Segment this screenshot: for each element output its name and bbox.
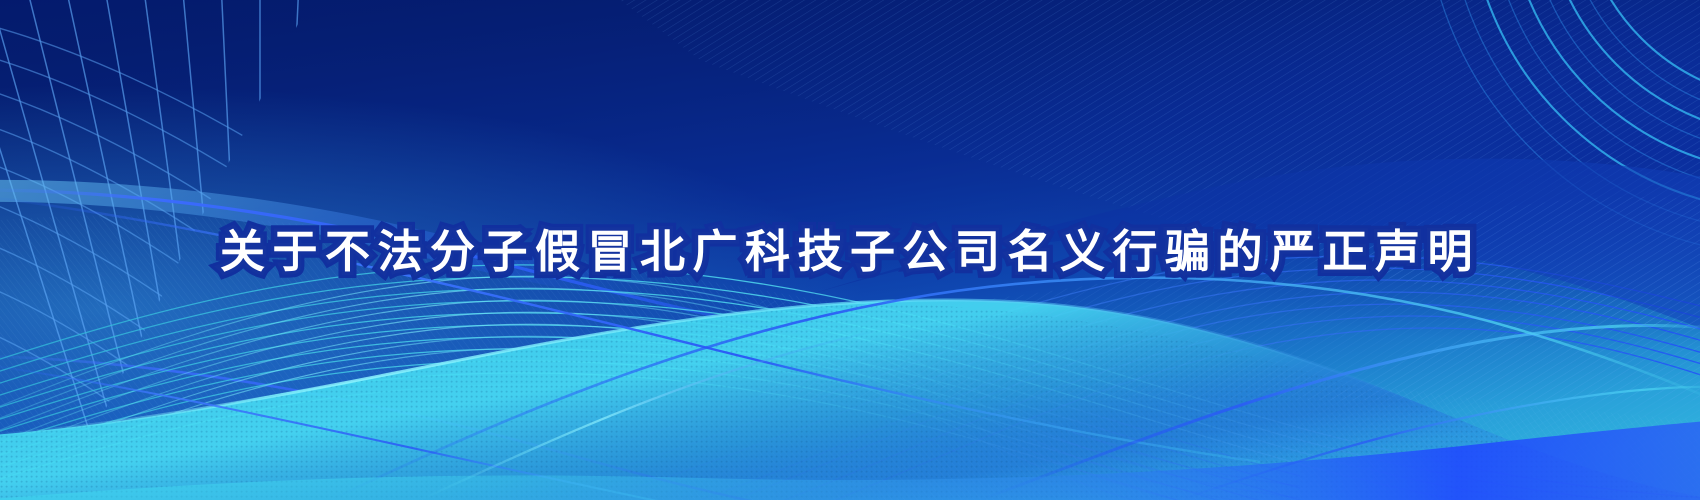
announcement-banner: 关于不法分子假冒北广科技子公司名义行骗的严正声明 关于不法分子假冒北广科技子公司… bbox=[0, 0, 1700, 500]
banner-title: 关于不法分子假冒北广科技子公司名义行骗的严正声明 关于不法分子假冒北广科技子公司… bbox=[214, 229, 1486, 274]
banner-title-container: 关于不法分子假冒北广科技子公司名义行骗的严正声明 关于不法分子假冒北广科技子公司… bbox=[0, 206, 1700, 296]
banner-title-text: 关于不法分子假冒北广科技子公司名义行骗的严正声明 bbox=[220, 226, 1480, 277]
